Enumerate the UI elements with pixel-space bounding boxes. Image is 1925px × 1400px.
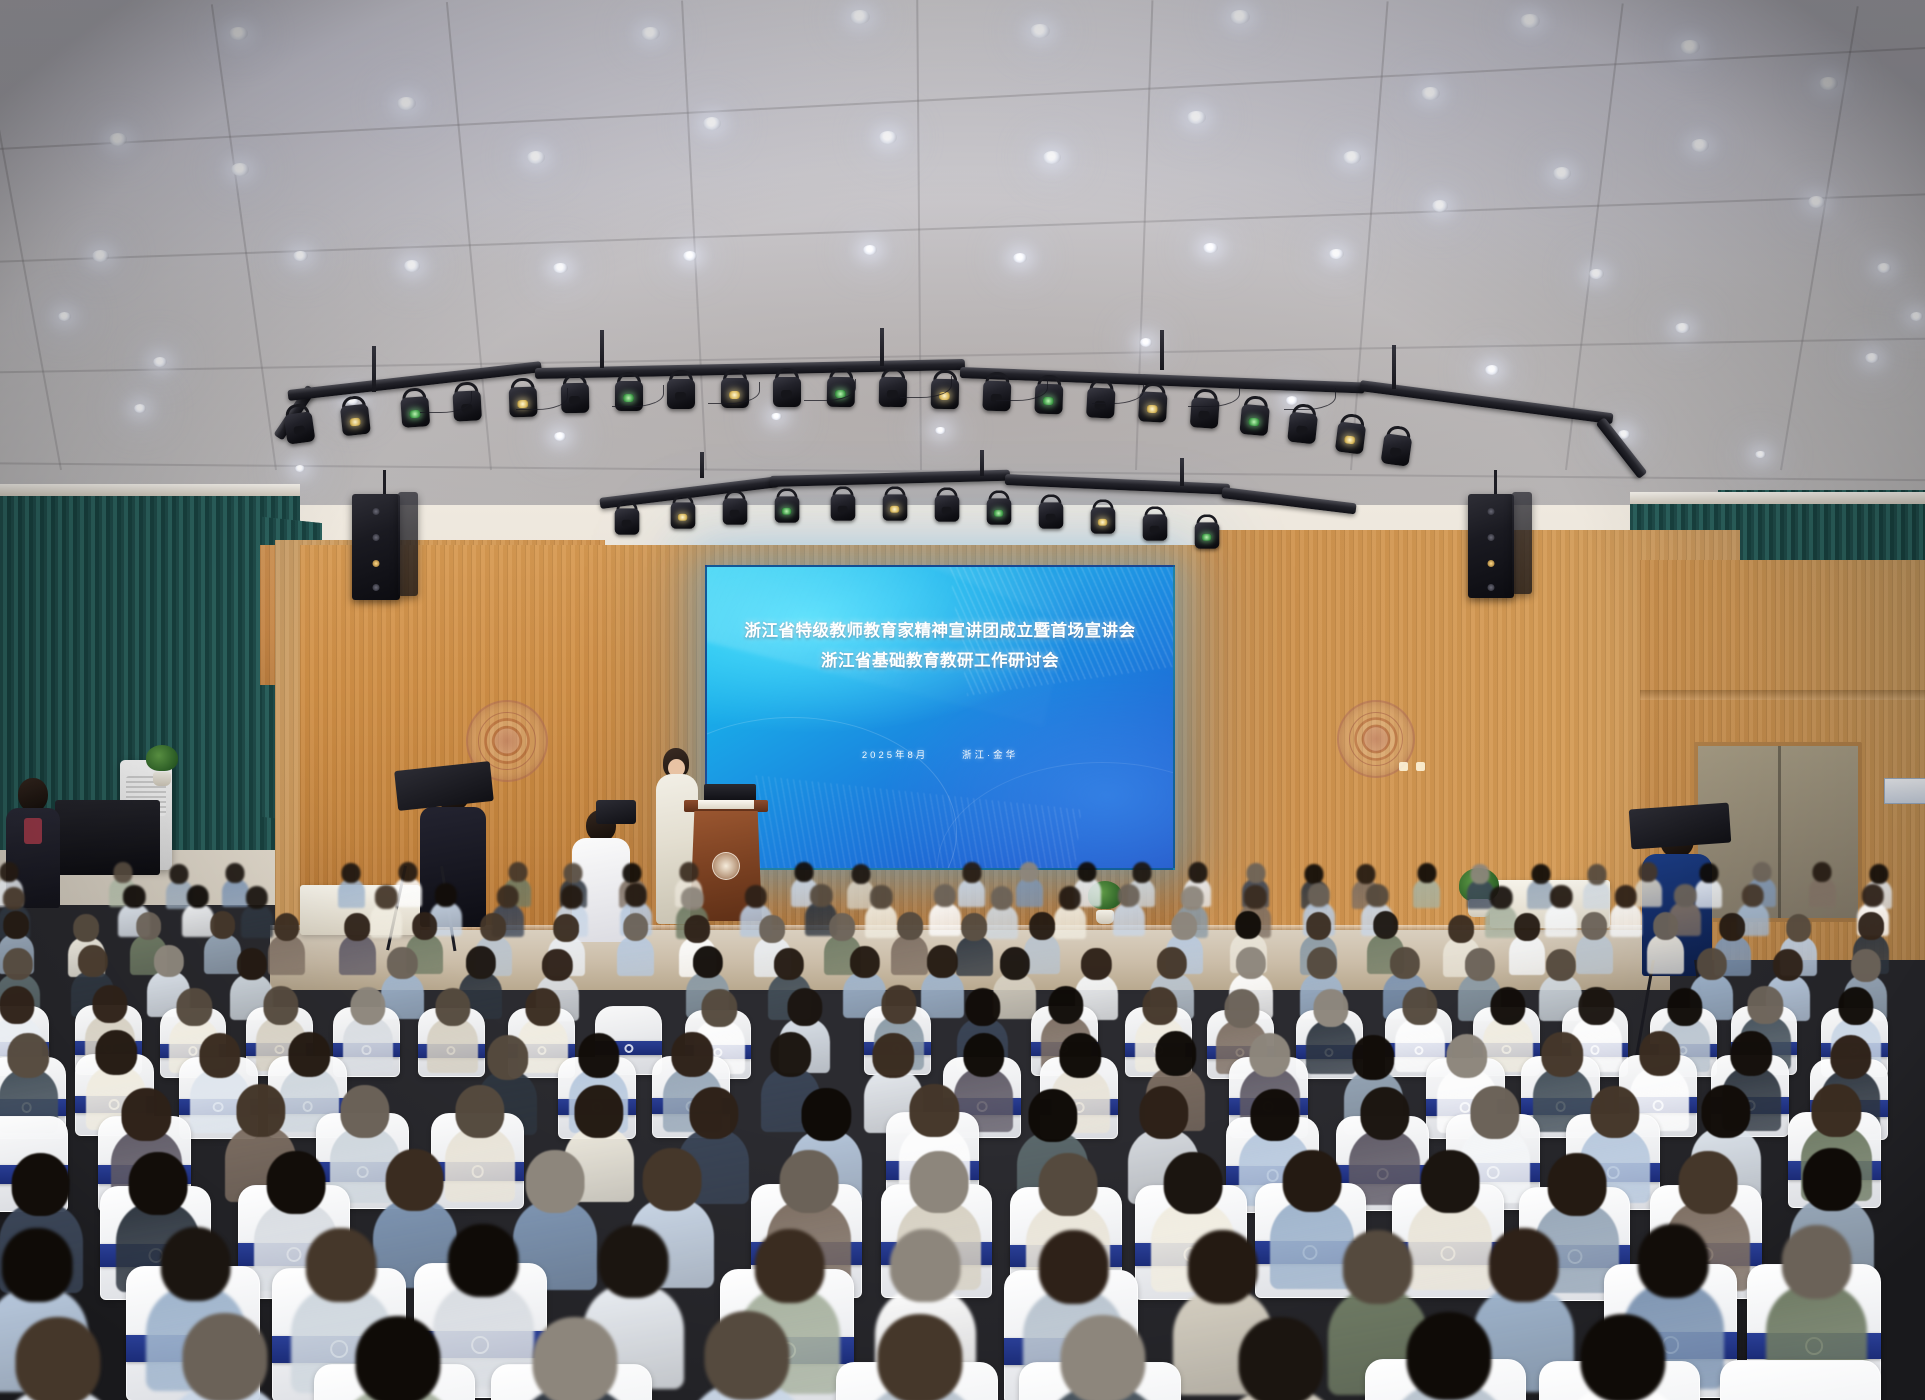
attendee-head	[1171, 912, 1197, 940]
attendee-head	[1235, 911, 1261, 939]
attendee-head	[1638, 1224, 1709, 1298]
attendee-head	[1653, 912, 1679, 940]
attendee-head	[1249, 1033, 1290, 1078]
light-lens	[890, 506, 900, 513]
seated-attendee	[617, 913, 654, 963]
attendee-head	[267, 1151, 326, 1214]
stage-moving-head-light	[281, 402, 316, 446]
attendee-head	[1548, 1153, 1607, 1216]
seated-attendee	[1647, 912, 1684, 962]
light-lens	[1146, 405, 1157, 414]
attendee-shoulders	[1413, 879, 1440, 908]
attendee-head	[1059, 886, 1081, 910]
attendee-head	[965, 988, 1000, 1026]
attendee-head	[1470, 1086, 1519, 1139]
attendee-head	[1048, 986, 1083, 1024]
recessed-ceiling-downlight	[1013, 253, 1027, 263]
attendee-head	[274, 913, 300, 941]
recessed-ceiling-downlight	[863, 245, 877, 255]
attendee-head	[684, 915, 710, 943]
seated-attendee	[1766, 1225, 1867, 1357]
attendee-shoulders	[1583, 881, 1610, 910]
attendee-head	[1406, 1312, 1491, 1400]
stage-moving-head-light	[830, 486, 856, 521]
attendee-head	[1667, 988, 1702, 1026]
attendee-head	[1615, 885, 1637, 909]
attendee-head	[1679, 1151, 1738, 1214]
attendee-shoulders	[339, 935, 376, 975]
attendee-head	[122, 1088, 171, 1141]
attendee-head	[1402, 987, 1437, 1025]
light-lens	[349, 417, 361, 426]
stage-moving-head-light	[986, 490, 1012, 525]
seated-attendee	[343, 987, 393, 1055]
attendee-head	[1465, 948, 1495, 980]
attendee-head	[1696, 948, 1726, 980]
light-lens	[409, 410, 421, 419]
panel-top-trim-left	[0, 484, 300, 496]
light-lens	[781, 390, 792, 398]
attendee-head	[129, 1152, 188, 1215]
attendee-head	[340, 1085, 389, 1138]
attendee-head	[564, 863, 583, 883]
attendee-head	[878, 1314, 963, 1400]
attendee-head	[398, 862, 417, 882]
recessed-ceiling-downlight	[771, 413, 782, 421]
wood-wall-trim-band	[1640, 690, 1925, 700]
recessed-ceiling-downlight	[1343, 151, 1361, 164]
handheld-camera-center	[596, 800, 636, 824]
attendee-head	[435, 988, 470, 1026]
screen-title-line-1: 浙江省特级教师教育家精神宣讲团成立暨首场宣讲会	[707, 619, 1173, 644]
attendee-head	[1417, 863, 1436, 883]
attendee-head	[927, 945, 957, 977]
attendee-head	[161, 1227, 232, 1301]
attendee-head	[237, 948, 267, 980]
attendee-head	[1590, 1086, 1639, 1139]
attendee-head	[623, 863, 642, 883]
recessed-ceiling-downlight	[1043, 151, 1061, 164]
truss-suspension-drop	[1160, 330, 1164, 370]
attendee-head	[154, 945, 184, 977]
attendee-head	[873, 1033, 914, 1078]
light-lens	[1043, 397, 1054, 405]
recessed-ceiling-downlight	[554, 432, 566, 441]
attendee-head	[387, 947, 417, 979]
attendee-head	[1514, 913, 1540, 941]
attendee-head	[795, 862, 814, 882]
attendee-head	[1851, 949, 1881, 981]
attendee-head	[759, 915, 785, 943]
attendee-head	[187, 885, 209, 909]
attendee-head	[3, 887, 25, 911]
attendee-head	[78, 945, 108, 977]
recessed-ceiling-downlight	[229, 27, 248, 41]
recessed-ceiling-downlight	[1203, 243, 1218, 254]
light-lens	[1150, 526, 1160, 533]
led-presentation-screen: 浙江省特级教师教育家精神宣讲团成立暨首场宣讲会 浙江省基础教育教研工作研讨会 2…	[705, 565, 1175, 870]
attendee-head	[136, 912, 162, 940]
attendee-head	[1164, 1152, 1223, 1215]
attendee-head	[1366, 884, 1388, 908]
attendee-head	[1373, 911, 1399, 939]
attendee-head	[15, 1317, 100, 1400]
attendee-head	[1038, 1230, 1109, 1304]
attendee-head	[245, 886, 267, 910]
light-lens	[1248, 417, 1260, 426]
attendee-head	[1236, 947, 1266, 979]
attendee-head	[1546, 949, 1576, 981]
attendee-shoulders	[343, 1017, 393, 1071]
seated-attendee	[427, 988, 477, 1056]
light-lens	[1198, 411, 1210, 420]
attendee-head	[1446, 1034, 1487, 1079]
recessed-ceiling-downlight	[1421, 87, 1440, 101]
light-lens	[994, 510, 1004, 517]
recessed-ceiling-downlight	[92, 250, 109, 262]
screen-location: 浙江·金华	[962, 750, 1018, 761]
attendee-head	[355, 1316, 440, 1400]
attendee-head	[113, 862, 132, 882]
recessed-ceiling-downlight	[935, 427, 946, 435]
attendee-head	[1581, 912, 1607, 940]
stage-moving-head-light	[338, 395, 372, 438]
recessed-ceiling-downlight	[1485, 365, 1499, 375]
light-lens	[675, 392, 686, 400]
light-lens	[569, 396, 580, 404]
attendee-head	[933, 884, 955, 908]
attendee-shoulders	[958, 879, 985, 908]
attendee-head	[182, 1313, 267, 1400]
attendee-head	[1244, 885, 1266, 909]
attendee-head	[1639, 862, 1658, 882]
attendee-head	[1181, 886, 1203, 910]
attendee-head	[1061, 1315, 1146, 1400]
attendee-head	[787, 988, 822, 1026]
attendee-head	[1862, 884, 1884, 908]
recessed-ceiling-downlight	[404, 260, 420, 272]
attendee-head	[123, 885, 145, 909]
stage-moving-head-light	[1142, 506, 1168, 541]
attendee-head	[770, 1032, 811, 1077]
attendee-head	[95, 1030, 136, 1075]
recessed-ceiling-downlight	[879, 131, 897, 144]
attendee-head	[375, 885, 397, 909]
attendee-head	[226, 863, 245, 883]
attendee-head	[1390, 947, 1420, 979]
attendee-head	[1307, 947, 1337, 979]
seated-attendee	[1545, 885, 1577, 927]
recessed-ceiling-downlight	[153, 357, 167, 367]
stage-moving-head-light	[1238, 395, 1271, 437]
attendee-head	[1773, 949, 1803, 981]
attendee-shoulders	[1647, 934, 1684, 974]
attendee-head	[1343, 1230, 1414, 1304]
attendee-head	[455, 1085, 504, 1138]
attendee-head	[1306, 912, 1332, 940]
attendee-head	[1353, 1035, 1394, 1080]
recessed-ceiling-downlight	[1329, 249, 1344, 260]
recessed-ceiling-downlight	[1140, 338, 1152, 347]
attendee-head	[73, 914, 99, 942]
speaker-hanging-rod-left	[383, 470, 386, 496]
attendee-head	[704, 1311, 789, 1399]
attendee-head	[542, 949, 572, 981]
host-scarf	[24, 818, 42, 844]
attendee-head	[1748, 986, 1783, 1024]
seated-attendee	[958, 862, 985, 898]
attendee-head	[1719, 913, 1745, 941]
attendee-head	[851, 864, 870, 884]
recessed-ceiling-downlight	[1877, 263, 1891, 273]
recessed-ceiling-downlight	[58, 312, 71, 321]
light-lens	[782, 508, 792, 515]
attendee-head	[0, 862, 19, 882]
attendee-shoulders	[1610, 903, 1642, 937]
light-lens	[622, 520, 632, 527]
attendee-head	[3, 911, 29, 939]
attendee-shoulders	[338, 879, 365, 908]
attendee-head	[170, 864, 189, 884]
stage-moving-head-light	[1379, 424, 1414, 468]
screen-wave-arc-2	[937, 762, 1175, 870]
seated-attendee	[514, 1317, 636, 1400]
attendee-head	[881, 985, 916, 1023]
seated-attendee	[339, 913, 376, 963]
attendee-head	[350, 987, 385, 1025]
plant-pot	[153, 772, 171, 786]
stage-moving-head-light	[614, 500, 640, 535]
attendee-head	[1250, 1089, 1299, 1142]
attendee-head	[525, 988, 560, 1026]
line-array-loudspeaker-left-side	[398, 492, 418, 596]
stage-moving-head-light	[934, 487, 960, 522]
attendee-head	[1118, 884, 1140, 908]
seated-attendee	[338, 863, 365, 899]
attendee-head	[1579, 987, 1614, 1025]
line-array-loudspeaker-left	[352, 494, 400, 600]
seated-attendee	[268, 913, 305, 963]
lectern-papers	[698, 800, 754, 809]
stage-moving-head-light	[774, 488, 800, 523]
attendee-head	[1830, 1035, 1871, 1080]
attendee-head	[525, 1150, 584, 1213]
light-lens	[1344, 435, 1356, 444]
attendee-head	[532, 1317, 617, 1400]
attendee-head	[1731, 1031, 1772, 1076]
attendee-shoulders	[1113, 903, 1145, 937]
attendee-head	[1139, 1086, 1188, 1139]
attendee-head	[342, 863, 361, 883]
recessed-ceiling-downlight	[683, 251, 697, 261]
attendee-head	[1802, 1148, 1861, 1211]
attendee-head	[487, 1035, 528, 1080]
attendee-head	[1531, 864, 1550, 884]
attendee-head	[1239, 1317, 1324, 1400]
attendee-head	[1580, 1314, 1665, 1400]
attendee-head	[7, 1033, 48, 1078]
recessed-ceiling-downlight	[1675, 323, 1690, 334]
attendee-head	[578, 1033, 619, 1078]
attendee-head	[289, 1032, 330, 1077]
attendee-head	[1078, 862, 1097, 882]
attendee-head	[1060, 1033, 1101, 1078]
seated-attendee	[1388, 1312, 1510, 1400]
attendee-shoulders	[1016, 878, 1043, 907]
recessed-ceiling-downlight	[109, 133, 127, 146]
attendee-head	[1838, 987, 1873, 1025]
attendee-head	[1701, 1085, 1750, 1138]
attendee-head	[1421, 1150, 1480, 1213]
recessed-ceiling-downlight	[527, 151, 545, 164]
stage-moving-head-light	[666, 370, 696, 410]
recessed-ceiling-downlight	[1553, 167, 1571, 180]
attendee-head	[448, 1224, 519, 1298]
recessed-ceiling-downlight	[553, 263, 568, 274]
attendee-head	[810, 884, 832, 908]
attendee-head	[689, 1087, 738, 1140]
attendee-head	[344, 913, 370, 941]
emblem-core	[1363, 726, 1388, 751]
attendee-head	[693, 946, 723, 978]
attendee-head	[481, 913, 507, 941]
host-head	[18, 778, 48, 812]
attendee-head	[1741, 884, 1763, 908]
seated-attendee	[686, 1311, 808, 1400]
plant-leaves	[146, 745, 178, 771]
attendee-head	[1313, 989, 1348, 1027]
attendee-head	[1155, 1031, 1196, 1076]
video-camera-right	[1629, 803, 1732, 850]
attendee-shoulders	[617, 936, 654, 976]
attendee-head	[1550, 885, 1572, 909]
attendee-head	[890, 1229, 961, 1303]
recessed-ceiling-downlight	[1432, 200, 1448, 212]
attendee-head	[92, 985, 127, 1023]
light-lens	[1390, 447, 1402, 456]
recessed-ceiling-downlight	[703, 117, 721, 130]
attendee-head	[435, 883, 457, 907]
attendee-head	[1858, 912, 1884, 940]
line-array-loudspeaker-right-side	[1512, 492, 1532, 594]
attendee-head	[1142, 987, 1177, 1025]
attendee-head	[897, 912, 923, 940]
recessed-ceiling-downlight	[1755, 451, 1766, 459]
recessed-ceiling-downlight	[1910, 312, 1923, 321]
attendee-head	[210, 911, 236, 939]
attendee-head	[199, 1033, 240, 1078]
seated-attendee	[1042, 1315, 1164, 1400]
screen-date: 2025年8月	[862, 750, 928, 761]
light-lens	[838, 506, 848, 513]
stage-moving-head-light	[722, 490, 748, 525]
attendee-shoulders	[268, 935, 305, 975]
attendee-shoulders	[1809, 878, 1836, 907]
seated-attendee	[0, 1033, 58, 1113]
recessed-ceiling-downlight	[1187, 111, 1206, 125]
screen-title-block: 浙江省特级教师教育家精神宣讲团成立暨首场宣讲会 浙江省基础教育教研工作研讨会	[707, 619, 1173, 674]
truss-suspension-drop	[880, 328, 884, 366]
attendee-head	[754, 1229, 825, 1303]
attendee-head	[625, 883, 647, 907]
attendee-head	[1639, 1031, 1680, 1076]
attendee-head	[465, 946, 495, 978]
attendee-head	[802, 1088, 851, 1141]
seated-attendee	[860, 1314, 982, 1400]
truss-suspension-drop	[600, 330, 604, 368]
attendee-head	[598, 1225, 669, 1299]
attendee-head	[1188, 862, 1207, 882]
attendee-head	[850, 946, 880, 978]
attendee-head	[306, 1228, 377, 1302]
attendee-head	[1489, 1228, 1560, 1302]
attendee-head	[702, 989, 737, 1027]
recessed-ceiling-downlight	[641, 27, 660, 41]
wall-sign	[1884, 778, 1925, 804]
attendee-head	[961, 913, 987, 941]
attendee-head	[554, 914, 580, 942]
attendee-head	[1157, 947, 1187, 979]
stage-moving-head-light	[1090, 499, 1116, 534]
seated-attendee	[1413, 863, 1440, 899]
attendee-head	[963, 1033, 1004, 1078]
attendee-head	[1752, 862, 1771, 882]
screen-title-line-2: 浙江省基础教育教研工作研讨会	[707, 649, 1173, 674]
attendee-head	[1224, 989, 1259, 1027]
attendee-head	[412, 912, 438, 940]
attendee-head	[1356, 864, 1375, 884]
attendee-head	[1020, 862, 1039, 882]
attendee-head	[1490, 886, 1512, 910]
attendee-shoulders	[1545, 904, 1577, 938]
attendee-head	[910, 1151, 969, 1214]
truss-suspension-drop	[372, 346, 376, 392]
attendee-head	[623, 913, 649, 941]
attendee-head	[1542, 1032, 1583, 1077]
attendee-head	[0, 986, 35, 1024]
attendee-head	[263, 986, 298, 1024]
attendee-head	[1674, 884, 1696, 908]
attendee-head	[1132, 862, 1151, 882]
screen-footer: 2025年8月 浙江·金华	[707, 747, 1173, 761]
light-lens	[1296, 425, 1308, 434]
wall-indicator-lights	[1399, 762, 1425, 771]
light-lens	[730, 510, 740, 517]
attendee-head	[870, 885, 892, 909]
attendee-head	[1029, 912, 1055, 940]
attendee-head	[1587, 864, 1606, 884]
attendee-head	[11, 1153, 70, 1216]
recessed-ceiling-downlight	[293, 251, 308, 262]
light-lens	[1098, 519, 1108, 526]
recessed-ceiling-downlight	[1865, 353, 1879, 363]
recessed-ceiling-downlight	[1589, 269, 1604, 280]
attendee-head	[962, 862, 981, 882]
stage-moving-head-light	[670, 494, 696, 529]
attendee-head	[1039, 1153, 1098, 1216]
line-array-loudspeaker-right	[1468, 494, 1514, 598]
panel-top-trim-right	[1630, 492, 1925, 504]
attendee-head	[1471, 864, 1490, 884]
attendee-head	[574, 1085, 623, 1138]
attendee-head	[1305, 864, 1324, 884]
seated-attendee	[1113, 884, 1145, 926]
attendee-head	[1812, 1084, 1861, 1137]
seated-attendee	[1610, 885, 1642, 927]
attendee-head	[3, 948, 33, 980]
attendee-head	[990, 886, 1012, 910]
attendee-head	[1307, 883, 1329, 907]
